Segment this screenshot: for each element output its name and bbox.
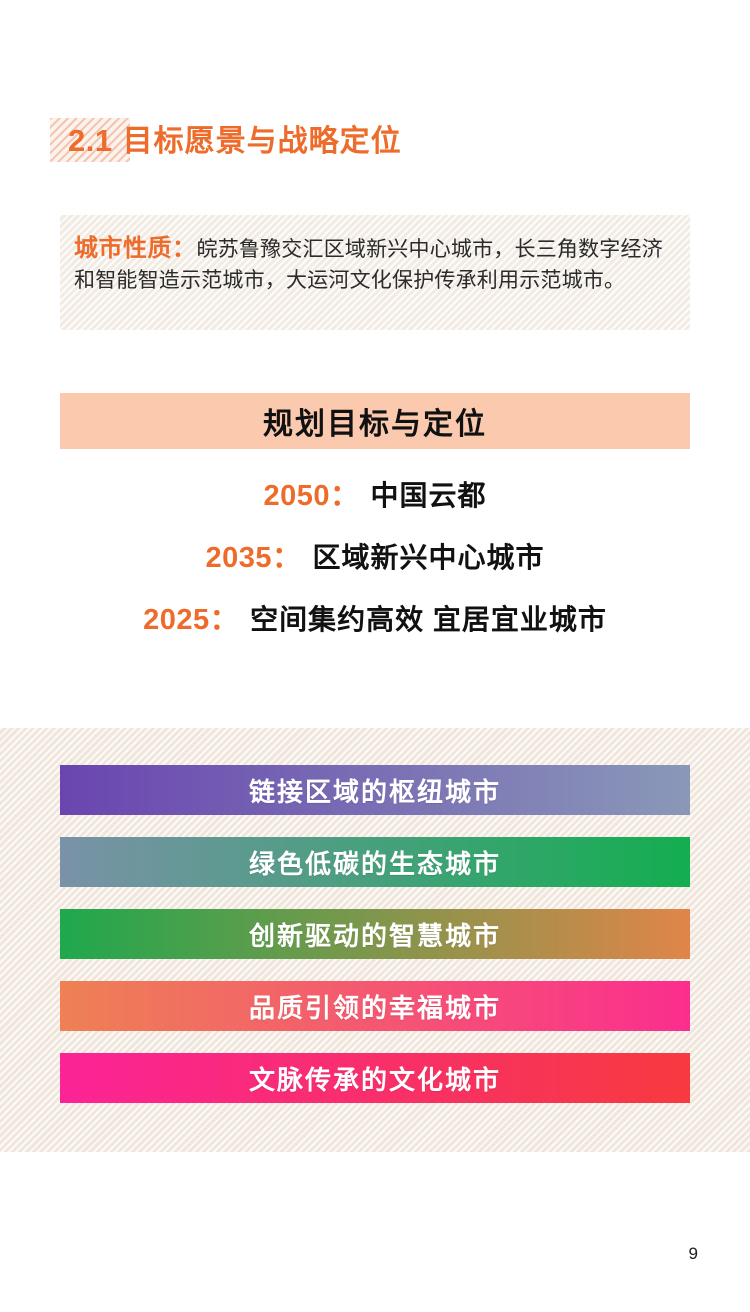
strategy-bar-label: 文脉传承的文化城市 (249, 1060, 501, 1097)
strategy-bar: 创新驱动的智慧城市 (60, 909, 690, 959)
strategy-bar-label: 绿色低碳的生态城市 (249, 844, 501, 881)
strategy-bar-label: 链接区域的枢纽城市 (249, 772, 501, 809)
section-number: 2.1 (68, 123, 113, 159)
goal-line: 2025： 空间集约高效 宜居宜业城市 (0, 596, 750, 638)
goal-line: 2035： 区域新兴中心城市 (0, 534, 750, 576)
page-number: 9 (689, 1244, 698, 1264)
strategy-bar-list: 链接区域的枢纽城市 绿色低碳的生态城市 创新驱动的智慧城市 品质引领的幸福城市 … (60, 765, 690, 1125)
goal-year: 2025： (143, 596, 239, 638)
goal-line: 2050： 中国云都 (0, 472, 750, 514)
goal-text: 中国云都 (371, 474, 487, 514)
goal-year: 2050： (263, 472, 359, 514)
city-nature-box: 城市性质：皖苏鲁豫交汇区域新兴中心城市，长三角数字经济和智能智造示范城市，大运河… (60, 215, 690, 330)
page-title: 2.1 目标愿景与战略定位 (50, 112, 402, 164)
strategy-bar: 文脉传承的文化城市 (60, 1053, 690, 1103)
city-nature-paragraph: 城市性质：皖苏鲁豫交汇区域新兴中心城市，长三角数字经济和智能智造示范城市，大运河… (74, 233, 678, 296)
goal-text: 空间集约高效 宜居宜业城市 (250, 598, 607, 638)
section-title: 目标愿景与战略定位 (123, 116, 402, 160)
strategy-bar-label: 品质引领的幸福城市 (249, 988, 501, 1025)
plan-goal-header-bar: 规划目标与定位 (60, 393, 690, 449)
strategy-bar: 链接区域的枢纽城市 (60, 765, 690, 815)
strategy-bar-label: 创新驱动的智慧城市 (249, 916, 501, 953)
goal-line-list: 2050： 中国云都 2035： 区域新兴中心城市 2025： 空间集约高效 宜… (0, 472, 750, 658)
goal-year: 2035： (205, 534, 301, 576)
heading-text-wrap: 2.1 目标愿景与战略定位 (50, 116, 402, 160)
strategy-bar: 绿色低碳的生态城市 (60, 837, 690, 887)
goal-text: 区域新兴中心城市 (313, 536, 545, 576)
strategy-bar: 品质引领的幸福城市 (60, 981, 690, 1031)
city-nature-label: 城市性质： (74, 235, 197, 262)
plan-goal-header-label: 规划目标与定位 (263, 399, 487, 443)
